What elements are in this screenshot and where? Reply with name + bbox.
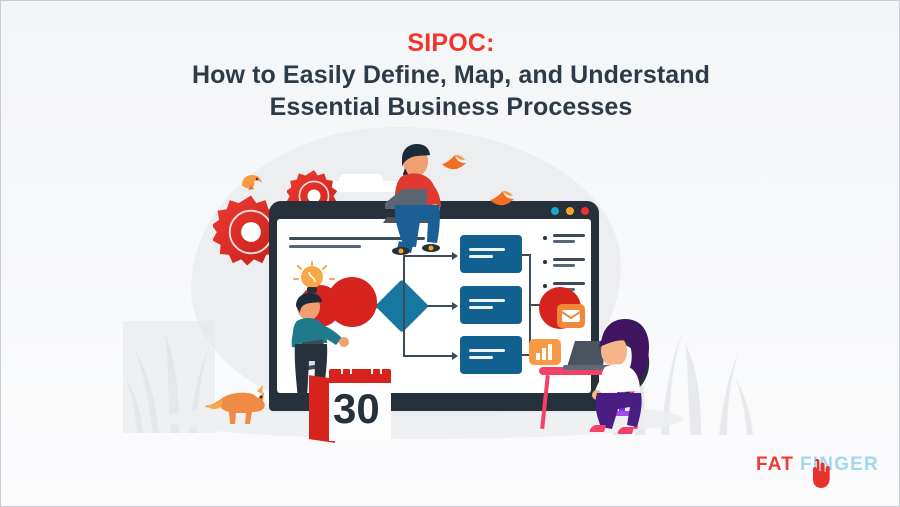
- flow-process-box: [460, 286, 522, 324]
- window-dot-red[interactable]: [581, 207, 589, 215]
- flow-arrowhead: [452, 302, 458, 310]
- calendar-ring: [371, 365, 382, 374]
- bullet-point: [543, 236, 547, 240]
- flow-connector: [403, 355, 453, 357]
- bullet-point: [543, 260, 547, 264]
- text-line: [553, 234, 585, 237]
- flow-decision-node: [375, 279, 429, 333]
- window-dot-amber[interactable]: [566, 207, 574, 215]
- fatfinger-logo[interactable]: FAT FINGER: [756, 451, 876, 485]
- text-line: [553, 258, 585, 261]
- bird-icon: [441, 153, 467, 171]
- text-line: [553, 282, 585, 285]
- window-dot-teal[interactable]: [551, 207, 559, 215]
- flow-start-ball: [327, 277, 377, 327]
- flow-connector: [403, 255, 405, 307]
- woman-at-desk-scene: [539, 309, 669, 439]
- bird-icon: [239, 169, 263, 191]
- hero-illustration: 30: [151, 121, 751, 471]
- woman-character: [587, 315, 657, 435]
- lightbulb-icon: [294, 261, 334, 293]
- flow-arrowhead: [452, 352, 458, 360]
- title-line-subtitle-2: Essential Business Processes: [1, 91, 900, 123]
- calendar-ring: [341, 365, 352, 374]
- flow-process-box: [460, 235, 522, 273]
- flow-connector: [403, 305, 405, 357]
- flow-connector: [427, 305, 453, 307]
- calendar-widget: 30: [309, 369, 393, 441]
- hand-pointer-icon: [809, 459, 831, 489]
- bird-icon: [489, 189, 515, 207]
- fox-icon: [203, 377, 275, 425]
- title-line-subtitle-1: How to Easily Define, Map, and Understan…: [1, 59, 900, 91]
- page-root: SIPOC: How to Easily Define, Map, and Un…: [0, 0, 900, 507]
- title-line-sipoc: SIPOC:: [1, 27, 900, 59]
- page-title: SIPOC: How to Easily Define, Map, and Un…: [1, 27, 900, 123]
- text-line: [553, 240, 575, 243]
- text-line: [289, 245, 361, 248]
- cloud-shape: [339, 174, 383, 185]
- flow-connector: [522, 254, 531, 256]
- text-line: [553, 264, 575, 267]
- calendar-day-number: 30: [333, 387, 380, 431]
- bullet-point: [543, 284, 547, 288]
- logo-text-fat: FAT: [756, 454, 794, 476]
- flow-process-box: [460, 336, 522, 374]
